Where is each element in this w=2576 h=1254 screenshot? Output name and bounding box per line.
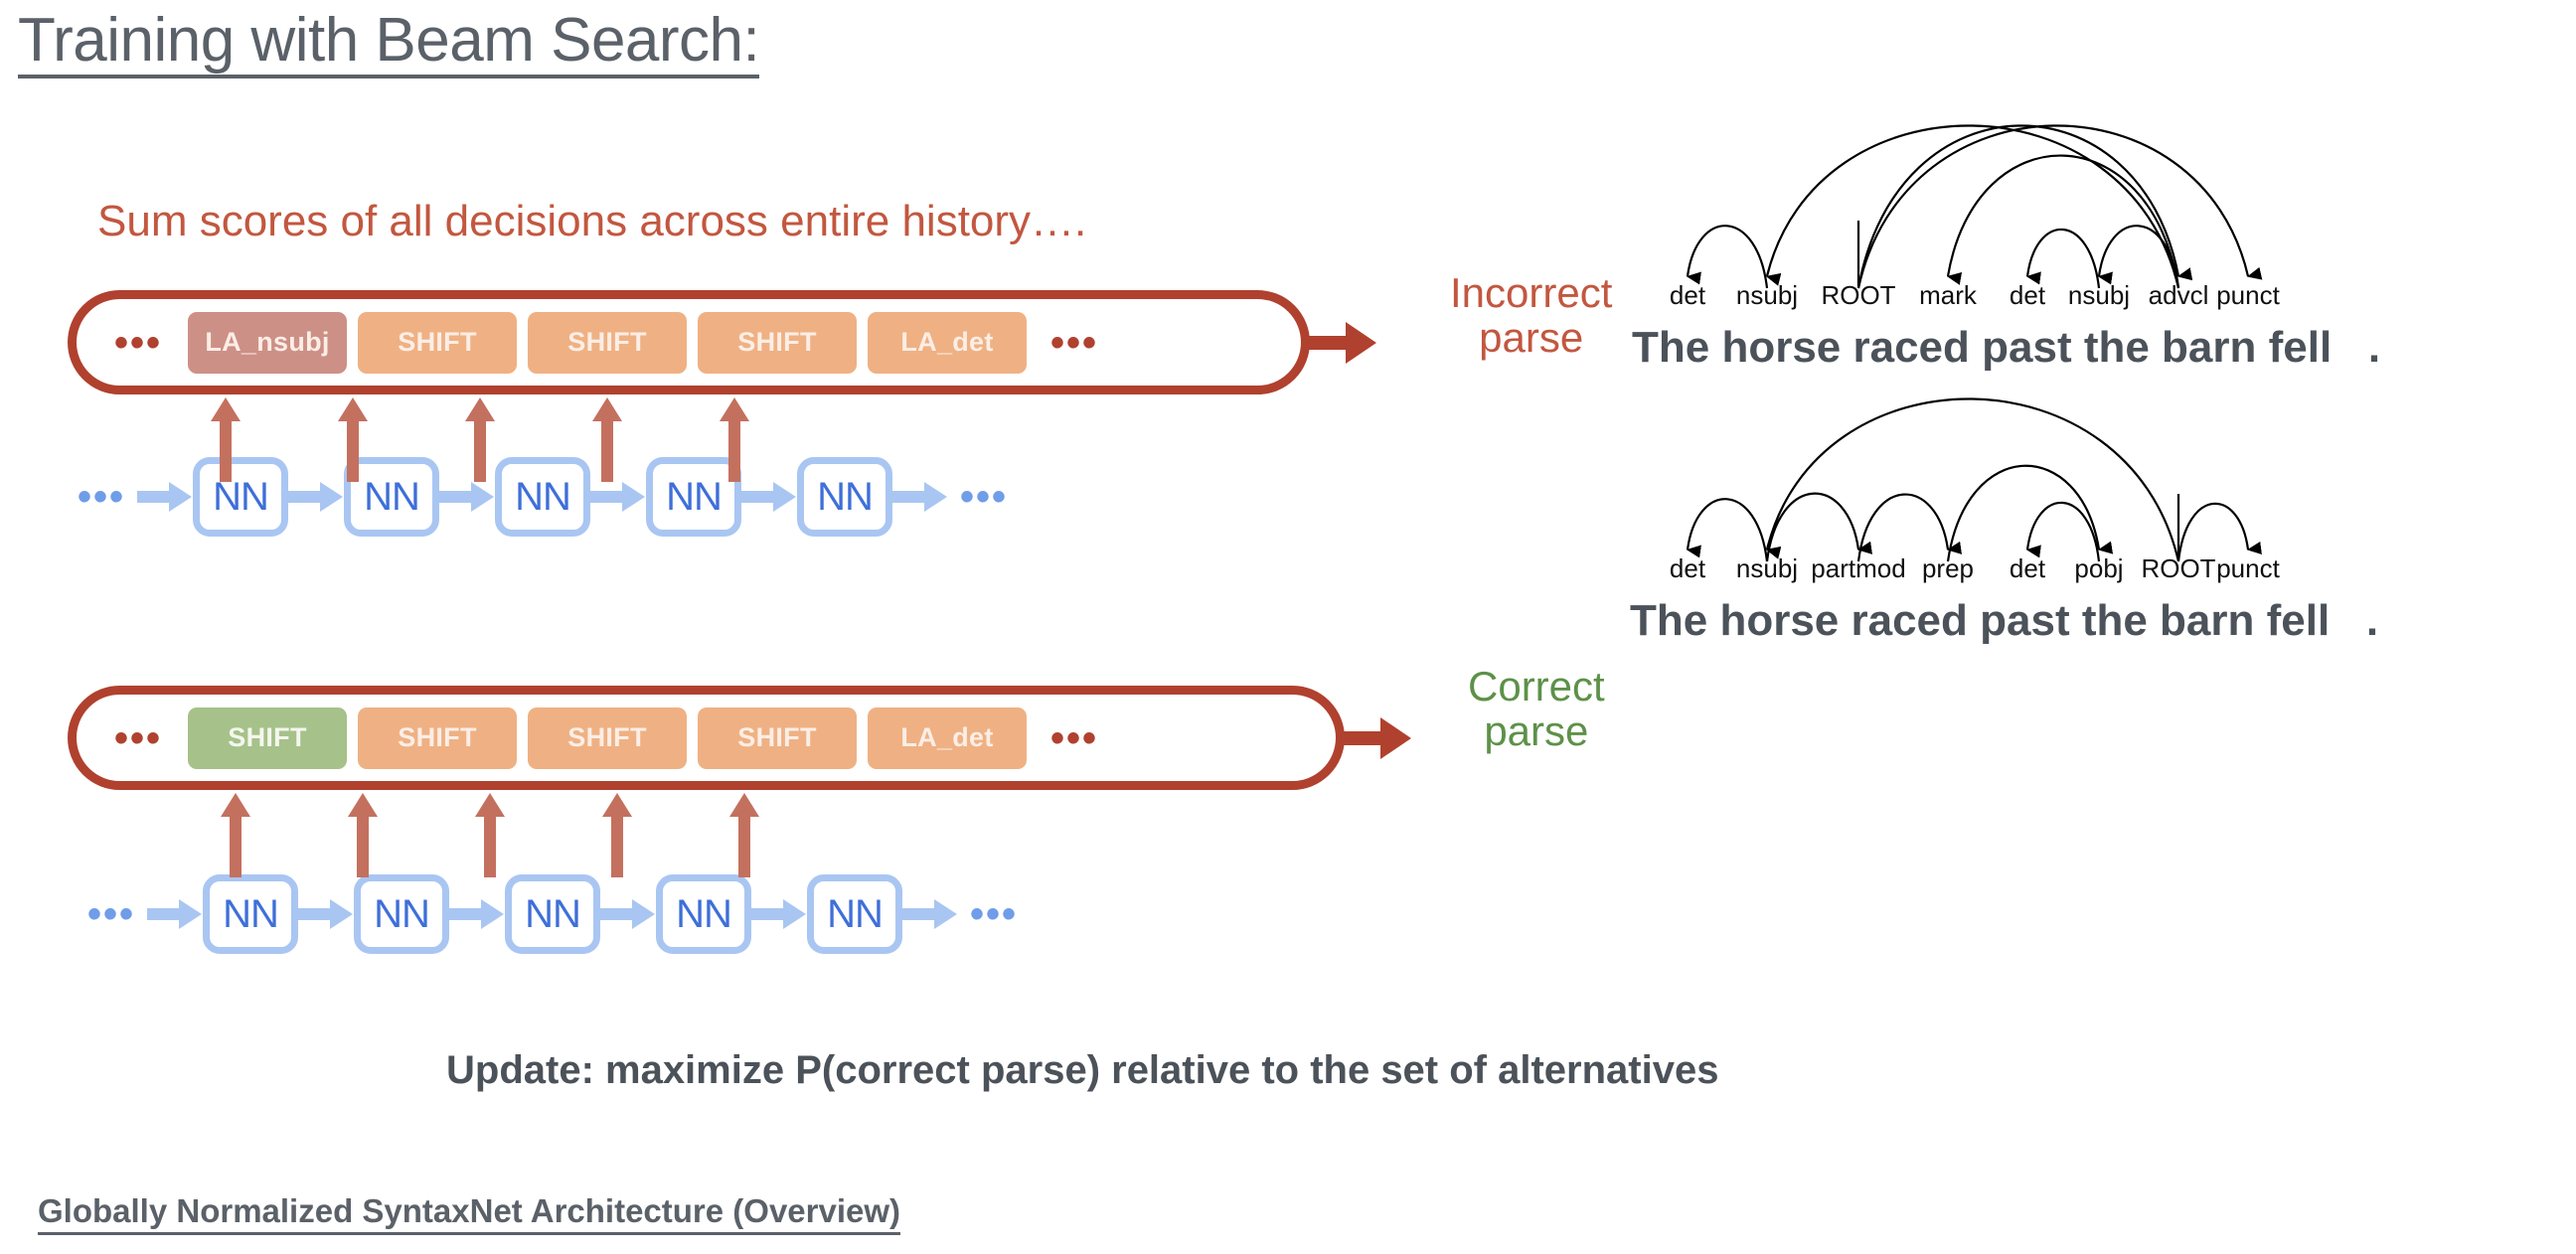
sum-scores-note: Sum scores of all decisions across entir… xyxy=(97,197,1086,246)
beam-left-ellipsis: ••• xyxy=(114,323,162,363)
decision-up-arrow-3 xyxy=(475,793,505,878)
dep-arc-mark xyxy=(1948,156,2178,288)
dep-arc-det xyxy=(1688,226,1767,288)
beam-right-ellipsis: ••• xyxy=(1050,323,1098,363)
decision-up-arrow-5 xyxy=(720,397,749,483)
correct-nn-row: ••• NN NN NN NN NN ••• xyxy=(87,874,1018,954)
update-caption: Update: maximize P(correct parse) relati… xyxy=(446,1048,1718,1093)
dep-arc-pobj xyxy=(1948,466,2099,561)
incorrect-beam-capsule: ••• LA_nsubj SHIFT SHIFT SHIFT LA_det ••… xyxy=(68,290,1310,394)
dep-arc-partmod xyxy=(1767,494,1858,561)
dep-label-punct: punct xyxy=(2216,553,2280,584)
dep-label-nsubj: nsubj xyxy=(2068,280,2130,311)
dep-label-det: det xyxy=(2010,553,2045,584)
dep-label-det: det xyxy=(1670,280,1705,311)
nn-output-arrow xyxy=(902,899,958,929)
action-chip-shift-1[interactable]: SHIFT xyxy=(358,312,517,374)
nn-link-arrow-1 xyxy=(288,482,344,512)
action-chip-shift-2[interactable]: SHIFT xyxy=(528,312,687,374)
dep-label-advcl: advcl xyxy=(2149,280,2209,311)
dep-label-ROOT: ROOT xyxy=(1821,280,1895,311)
nn-box-5[interactable]: NN xyxy=(797,457,892,537)
correct-parse-label-line1: Correct xyxy=(1468,664,1605,708)
action-chip-la-det[interactable]: LA_det xyxy=(868,707,1027,769)
nn-link-arrow-4 xyxy=(741,482,797,512)
nn-box-5[interactable]: NN xyxy=(807,874,902,954)
nn-link-arrow-2 xyxy=(439,482,495,512)
dep-label-prep: prep xyxy=(1922,553,1974,584)
action-chip-shift-1[interactable]: SHIFT xyxy=(358,707,517,769)
decision-up-arrow-1 xyxy=(221,793,250,878)
correct-parse-tree: detnsubjpartmodprepdetpobjROOTpunct The … xyxy=(1650,333,2544,631)
incorrect-beam-exit-arrow xyxy=(1304,320,1377,366)
decision-up-arrow-1 xyxy=(211,397,241,483)
nn-output-arrow xyxy=(892,482,948,512)
page-title: Training with Beam Search: xyxy=(18,8,759,78)
nn-box-3[interactable]: NN xyxy=(495,457,590,537)
nn-left-ellipsis: ••• xyxy=(87,894,135,934)
decision-up-arrow-3 xyxy=(465,397,495,483)
incorrect-parse-label-line1: Incorrect xyxy=(1450,270,1612,315)
nn-box-1[interactable]: NN xyxy=(193,457,288,537)
beam-left-ellipsis: ••• xyxy=(114,718,162,758)
nn-link-arrow-1 xyxy=(298,899,354,929)
nn-link-arrow-2 xyxy=(449,899,505,929)
nn-box-3[interactable]: NN xyxy=(505,874,600,954)
footer-caption: Globally Normalized SyntaxNet Architectu… xyxy=(38,1192,900,1235)
action-chip-shift-gold[interactable]: SHIFT xyxy=(188,707,347,769)
dep-arc-prep xyxy=(1858,495,1948,561)
incorrect-parse-label: Incorrect parse xyxy=(1450,270,1612,361)
decision-up-arrow-2 xyxy=(338,397,368,483)
nn-input-arrow xyxy=(137,482,193,512)
action-chip-shift-3[interactable]: SHIFT xyxy=(698,707,857,769)
incorrect-beam-action-row: LA_nsubj SHIFT SHIFT SHIFT LA_det xyxy=(188,312,1027,374)
nn-input-arrow xyxy=(147,899,203,929)
nn-link-arrow-4 xyxy=(751,899,807,929)
incorrect-parse-label-line2: parse xyxy=(1450,315,1612,360)
dep-label-punct: punct xyxy=(2216,280,2280,311)
nn-right-ellipsis: ••• xyxy=(960,477,1008,517)
dep-arc-nsubj xyxy=(1767,398,2178,561)
dep-arc-advcl xyxy=(1858,125,2178,288)
correct-tree-sentence: The horse raced past the barn fell . xyxy=(1630,596,2378,646)
dep-arc-det xyxy=(1688,499,1767,561)
correct-parse-label-line2: parse xyxy=(1468,708,1605,753)
decision-up-arrow-4 xyxy=(602,793,632,878)
dep-label-pobj: pobj xyxy=(2074,553,2123,584)
decision-up-arrow-4 xyxy=(592,397,622,483)
nn-link-arrow-3 xyxy=(600,899,656,929)
nn-box-1[interactable]: NN xyxy=(203,874,298,954)
dep-label-ROOT: ROOT xyxy=(2141,553,2215,584)
action-chip-la-nsubj[interactable]: LA_nsubj xyxy=(188,312,347,374)
dep-label-det: det xyxy=(1670,553,1705,584)
nn-link-arrow-3 xyxy=(590,482,646,512)
action-chip-shift-2[interactable]: SHIFT xyxy=(528,707,687,769)
dep-label-mark: mark xyxy=(1919,280,1977,311)
correct-beam-exit-arrow xyxy=(1339,715,1412,761)
incorrect-tree-arcs xyxy=(1650,60,2544,298)
nn-box-4[interactable]: NN xyxy=(656,874,751,954)
incorrect-parse-tree: detnsubjROOTmarkdetnsubjadvclpunct The h… xyxy=(1650,60,2544,358)
dep-label-nsubj: nsubj xyxy=(1736,280,1798,311)
dep-label-partmod: partmod xyxy=(1811,553,1905,584)
nn-right-ellipsis: ••• xyxy=(970,894,1018,934)
correct-tree-arcs xyxy=(1650,333,2544,571)
correct-beam-capsule: ••• SHIFT SHIFT SHIFT SHIFT LA_det ••• xyxy=(68,686,1345,790)
dep-label-nsubj: nsubj xyxy=(1736,553,1798,584)
action-chip-shift-3[interactable]: SHIFT xyxy=(698,312,857,374)
nn-box-2[interactable]: NN xyxy=(354,874,449,954)
decision-up-arrow-5 xyxy=(729,793,759,878)
action-chip-la-det[interactable]: LA_det xyxy=(868,312,1027,374)
beam-right-ellipsis: ••• xyxy=(1050,718,1098,758)
dep-arc-punct xyxy=(1858,125,2248,288)
decision-up-arrow-2 xyxy=(348,793,378,878)
nn-left-ellipsis: ••• xyxy=(78,477,125,517)
correct-parse-label: Correct parse xyxy=(1468,664,1605,754)
correct-beam-action-row: SHIFT SHIFT SHIFT SHIFT LA_det xyxy=(188,707,1027,769)
dep-label-det: det xyxy=(2010,280,2045,311)
